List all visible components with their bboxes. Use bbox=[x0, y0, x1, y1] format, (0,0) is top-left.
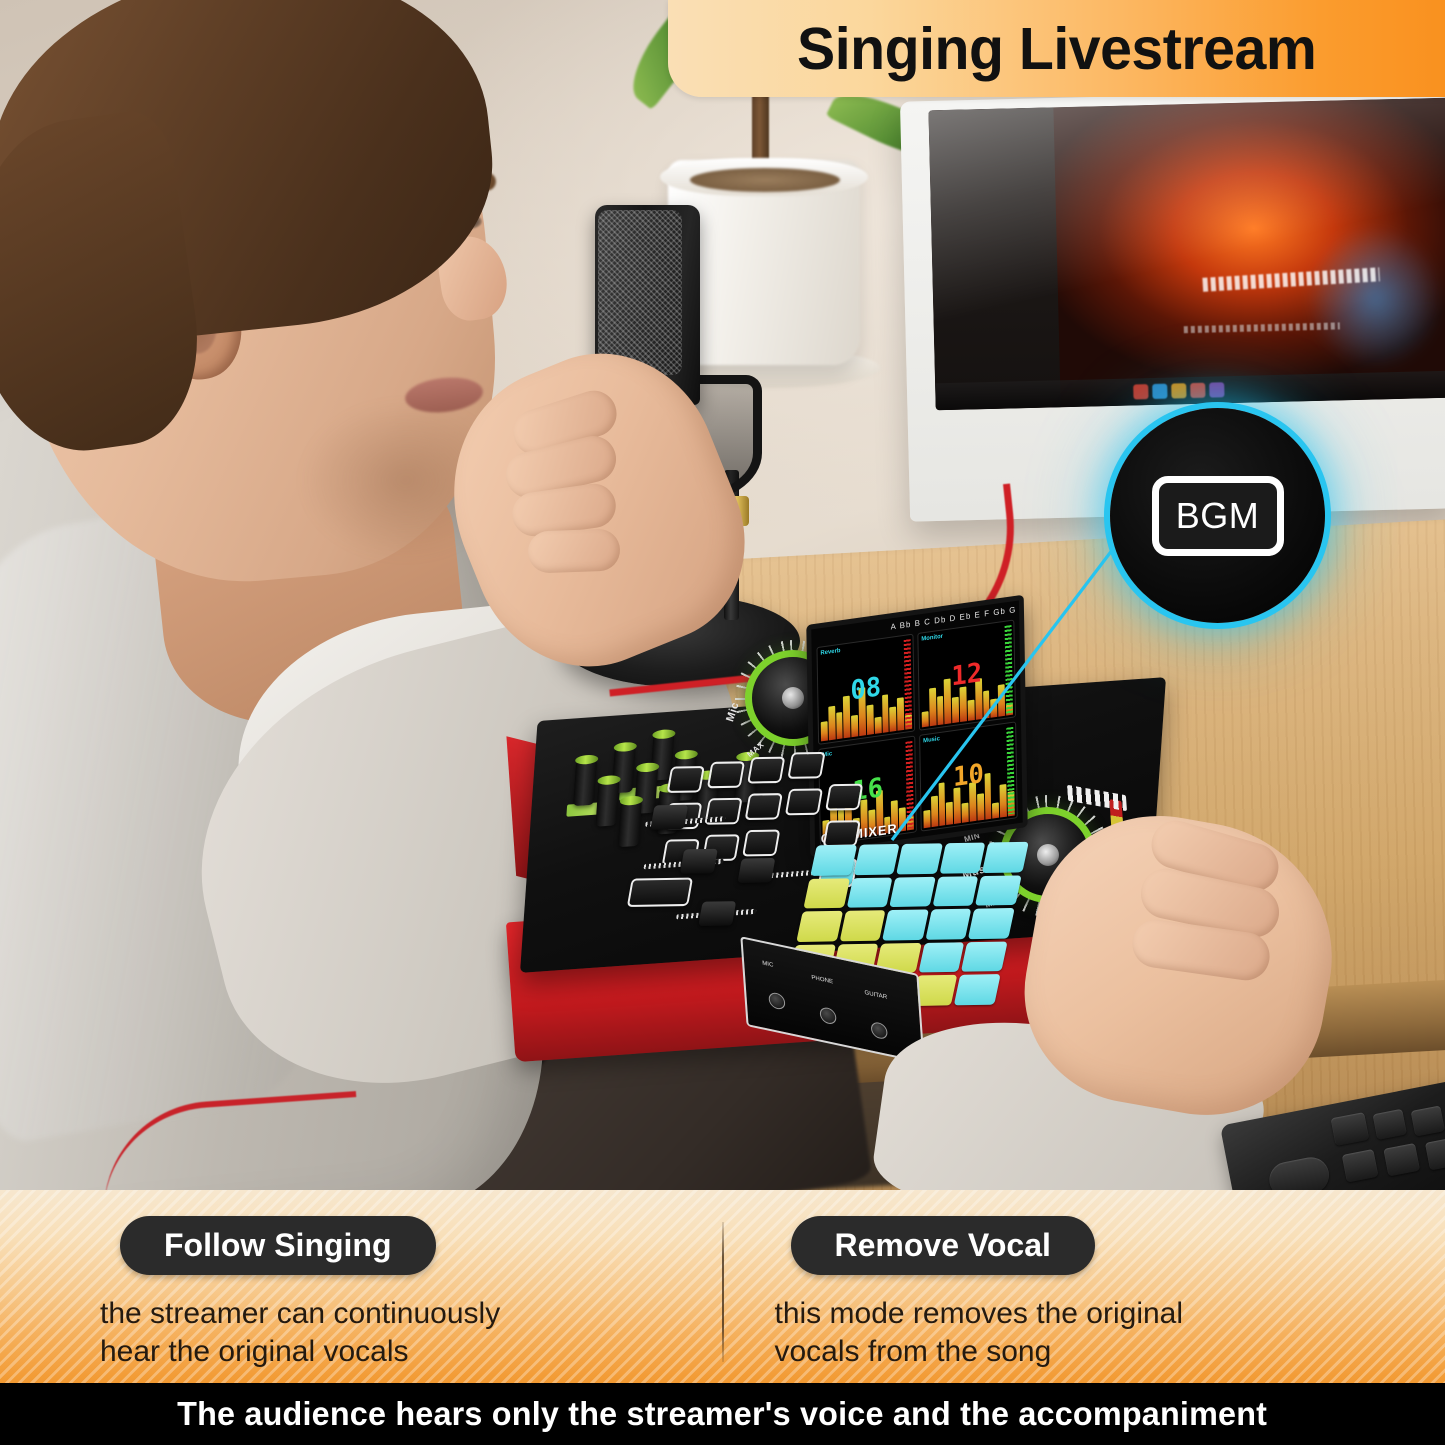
mixer-button[interactable] bbox=[747, 757, 785, 784]
product-marketing-image: TONLAMP bbox=[0, 0, 1445, 1445]
sound-pad[interactable] bbox=[896, 843, 942, 874]
fader-handle[interactable] bbox=[650, 805, 688, 830]
mixer-button[interactable] bbox=[667, 766, 705, 793]
sound-pad[interactable] bbox=[918, 942, 964, 973]
monitor-screen bbox=[928, 98, 1445, 411]
fader-handle[interactable] bbox=[680, 849, 718, 874]
sound-pad[interactable] bbox=[810, 845, 856, 876]
lcd-cell-name: Reverb bbox=[820, 648, 840, 657]
sound-pad[interactable] bbox=[882, 910, 928, 941]
sound-pad[interactable] bbox=[796, 911, 842, 942]
lcd-cell-value: 12 bbox=[951, 657, 982, 692]
bgm-label: BGM bbox=[1176, 495, 1260, 537]
header-banner: Singing Livestream bbox=[668, 0, 1445, 97]
feature-badge-follow-singing: Follow Singing bbox=[120, 1216, 436, 1275]
feature-column-remove-vocal: Remove Vocal this mode removes the origi… bbox=[711, 1216, 1386, 1385]
monitor-glare bbox=[928, 98, 1445, 411]
io-jack[interactable] bbox=[768, 991, 785, 1010]
sound-pad[interactable] bbox=[968, 908, 1014, 939]
photo-scene: TONLAMP bbox=[0, 0, 1445, 1190]
mixer-button[interactable] bbox=[825, 784, 863, 811]
sound-pad[interactable] bbox=[954, 975, 1000, 1006]
lcd-level-meter bbox=[904, 639, 912, 727]
feature-column-follow-singing: Follow Singing the streamer can continuo… bbox=[60, 1216, 711, 1385]
feature-badge-wrap: Remove Vocal bbox=[773, 1216, 1348, 1275]
sound-pad[interactable] bbox=[889, 876, 935, 907]
feature-divider bbox=[722, 1222, 724, 1362]
mixer-button[interactable] bbox=[785, 788, 823, 815]
io-label: PHONE bbox=[811, 975, 833, 986]
keyboard-key[interactable] bbox=[1373, 1109, 1407, 1140]
eq-knob[interactable] bbox=[595, 779, 619, 827]
lcd-level-meter bbox=[1006, 726, 1014, 814]
sound-pad[interactable] bbox=[975, 875, 1021, 906]
sound-pad[interactable] bbox=[939, 843, 985, 874]
io-jack[interactable] bbox=[871, 1021, 888, 1040]
io-jack[interactable] bbox=[819, 1006, 836, 1025]
lcd-cell-value: 08 bbox=[850, 672, 881, 707]
feature-description-remove-vocal: this mode removes the original vocals fr… bbox=[773, 1295, 1348, 1372]
keyboard-key[interactable] bbox=[1383, 1143, 1420, 1177]
mixer-button[interactable] bbox=[707, 761, 745, 788]
bgm-callout-badge: BGM bbox=[1110, 408, 1325, 623]
keyboard-key[interactable] bbox=[1266, 1154, 1332, 1190]
sound-pad[interactable] bbox=[803, 878, 849, 909]
eq-knob[interactable] bbox=[618, 799, 642, 847]
mixer-button[interactable] bbox=[823, 820, 861, 847]
page-title: Singing Livestream bbox=[797, 15, 1316, 83]
lcd-level-meter bbox=[1005, 625, 1013, 713]
keyboard-key[interactable] bbox=[1425, 1137, 1445, 1171]
lcd-cell-value: 10 bbox=[953, 759, 984, 794]
lcd-cell-music: Music 10 bbox=[919, 721, 1018, 832]
feature-badge-wrap: Follow Singing bbox=[98, 1216, 673, 1275]
footer-text: The audience hears only the streamer's v… bbox=[177, 1395, 1267, 1433]
feature-description-follow-singing: the streamer can continuously hear the o… bbox=[98, 1295, 673, 1372]
lcd-cell-monitor: Monitor 12 bbox=[917, 620, 1016, 731]
mixer-button[interactable] bbox=[745, 793, 783, 820]
sound-pad[interactable] bbox=[932, 876, 978, 907]
keyboard-key[interactable] bbox=[1331, 1112, 1370, 1146]
sound-pad[interactable] bbox=[839, 910, 885, 941]
eq-knob[interactable] bbox=[573, 758, 597, 806]
sound-pad[interactable] bbox=[853, 844, 899, 875]
sound-pad[interactable] bbox=[961, 941, 1007, 972]
plant-soil bbox=[690, 168, 840, 192]
fader-handle[interactable] bbox=[737, 858, 775, 883]
mixer-button[interactable] bbox=[742, 830, 780, 857]
sound-pad[interactable] bbox=[982, 842, 1028, 873]
keyboard-key[interactable] bbox=[1342, 1149, 1379, 1183]
mixer-power-button[interactable] bbox=[627, 878, 693, 907]
keyboard-key[interactable] bbox=[1411, 1105, 1445, 1136]
io-label: GUITAR bbox=[864, 990, 887, 1001]
microphone-grille bbox=[598, 210, 682, 375]
feature-badge-remove-vocal: Remove Vocal bbox=[791, 1216, 1095, 1275]
fader-handle[interactable] bbox=[698, 901, 736, 926]
sound-pad[interactable] bbox=[846, 877, 892, 908]
lcd-cell-name: Music bbox=[923, 736, 940, 744]
bgm-badge-frame: BGM bbox=[1152, 476, 1284, 556]
lcd-cell-reverb: Reverb 08 bbox=[816, 634, 915, 745]
footer-bar: The audience hears only the streamer's v… bbox=[0, 1383, 1445, 1445]
mixer-button[interactable] bbox=[787, 752, 825, 779]
lcd-cell-name: Monitor bbox=[921, 634, 943, 643]
sound-pad[interactable] bbox=[925, 909, 971, 940]
io-label: MIC bbox=[762, 960, 774, 968]
